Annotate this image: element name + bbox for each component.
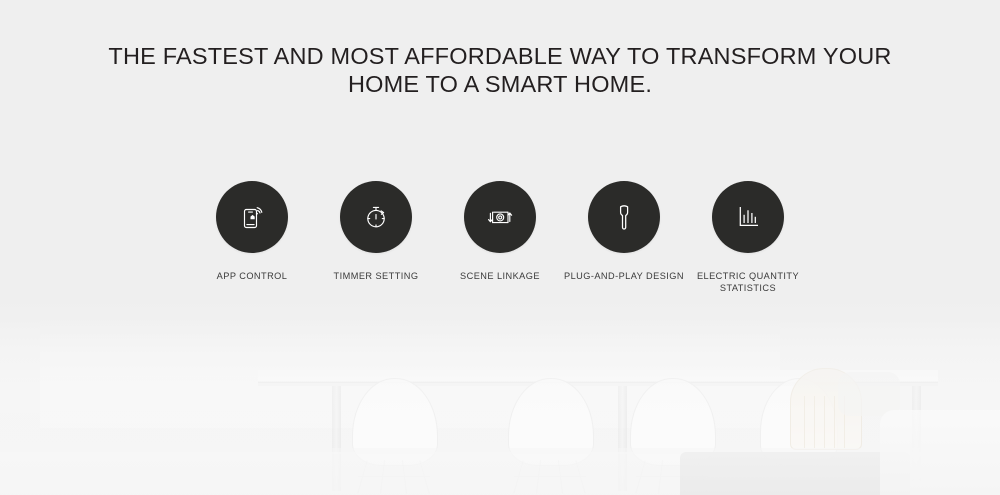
feature-icon-badge[interactable] <box>464 181 536 253</box>
feature-label: APP CONTROL <box>217 270 288 282</box>
feature-list: APP CONTROL TIMMER SETTIN <box>190 181 810 294</box>
feature-icon-badge[interactable] <box>216 181 288 253</box>
feature-label: ELECTRIC QUANTITY STATISTICS <box>697 270 799 294</box>
feature-label: PLUG-AND-PLAY DESIGN <box>564 270 684 282</box>
wrench-icon <box>609 202 639 232</box>
feature-item-timmer-setting[interactable]: TIMMER SETTING <box>314 181 438 282</box>
feature-item-app-control[interactable]: APP CONTROL <box>190 181 314 282</box>
background-photo <box>0 300 1000 495</box>
feature-item-electric-quantity-statistics[interactable]: ELECTRIC QUANTITY STATISTICS <box>686 181 810 294</box>
stopwatch-icon <box>361 202 391 232</box>
feature-item-plug-and-play-design[interactable]: PLUG-AND-PLAY DESIGN <box>562 181 686 282</box>
headline: THE FASTEST AND MOST AFFORDABLE WAY TO T… <box>0 42 1000 98</box>
feature-icon-badge[interactable] <box>712 181 784 253</box>
smartphone-wifi-icon <box>237 202 267 232</box>
feature-label: TIMMER SETTING <box>334 270 419 282</box>
scene-linkage-icon <box>484 202 516 232</box>
bar-chart-icon <box>733 202 763 232</box>
feature-label: SCENE LINKAGE <box>460 270 540 282</box>
feature-icon-badge[interactable] <box>588 181 660 253</box>
feature-item-scene-linkage[interactable]: SCENE LINKAGE <box>438 181 562 282</box>
feature-icon-badge[interactable] <box>340 181 412 253</box>
promo-banner: THE FASTEST AND MOST AFFORDABLE WAY TO T… <box>0 0 1000 495</box>
photo-top-fade <box>0 300 1000 420</box>
